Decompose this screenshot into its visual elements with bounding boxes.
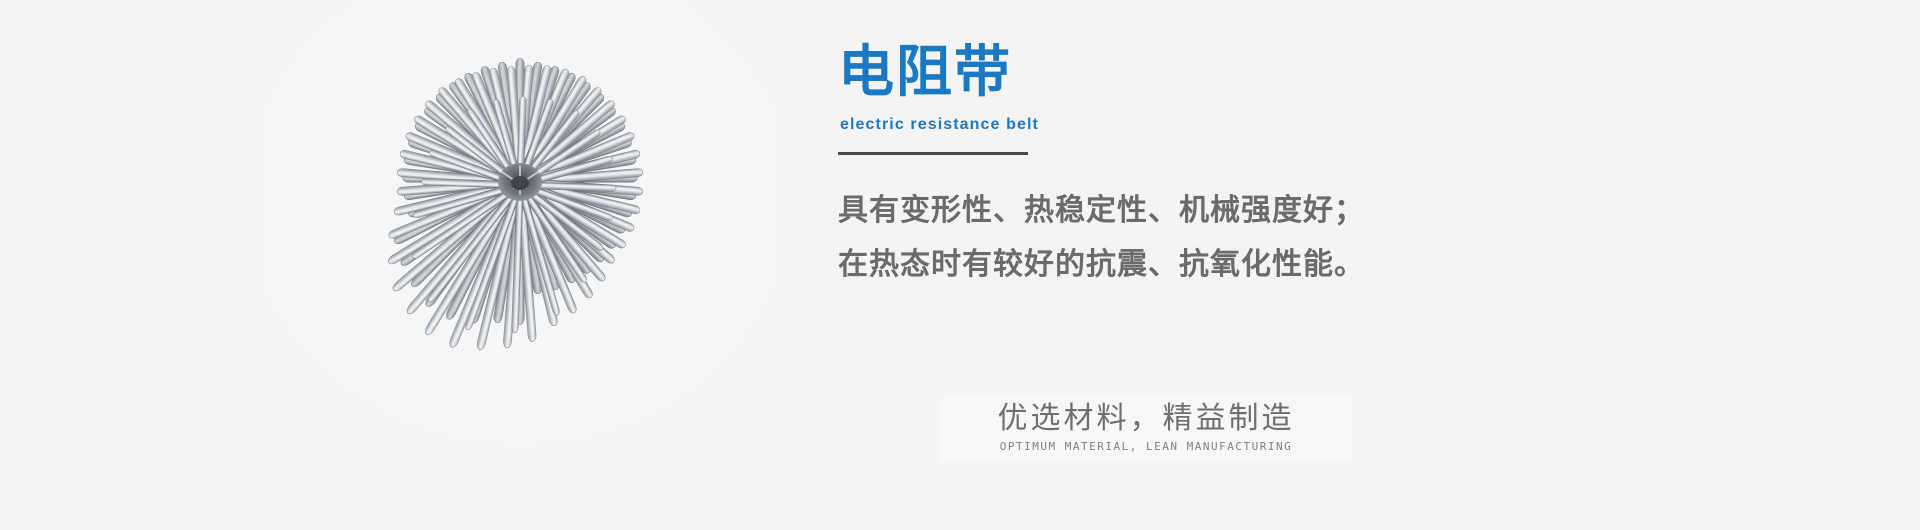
product-banner: 电阻带 electric resistance belt 具有变形性、热稳定性、…: [0, 0, 1920, 530]
description-line-1: 具有变形性、热稳定性、机械强度好；: [838, 188, 1458, 234]
description-line-2: 在热态时有较好的抗震、抗氧化性能。: [838, 242, 1458, 288]
page-subtitle: electric resistance belt: [840, 115, 1039, 135]
title-divider: [838, 152, 1028, 155]
product-description: 具有变形性、热稳定性、机械强度好； 在热态时有较好的抗震、抗氧化性能。: [838, 188, 1458, 296]
slogan-english: OPTIMUM MATERIAL, LEAN MANUFACTURING: [946, 440, 1346, 454]
page-title: 电阻带: [838, 42, 1012, 104]
product-image: [300, 30, 740, 430]
slogan-chinese: 优选材料，精益制造: [946, 400, 1346, 438]
slogan-watermark: 优选材料，精益制造 OPTIMUM MATERIAL, LEAN MANUFAC…: [940, 396, 1352, 462]
